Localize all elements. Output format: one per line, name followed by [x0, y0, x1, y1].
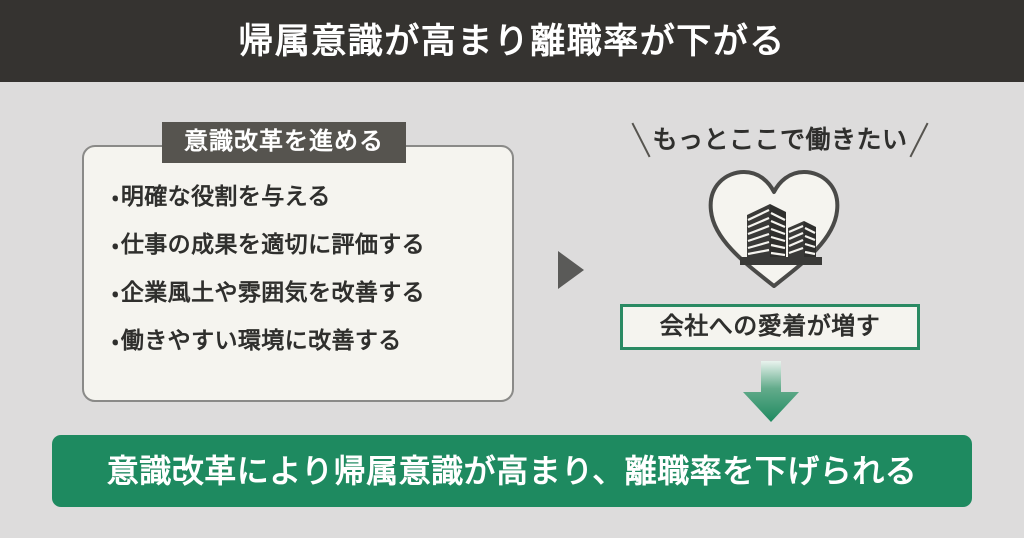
improvement-bullet-list: ・明確な役割を与える ・仕事の成果を適切に評価する ・企業風土や雰囲気を改善する…: [112, 185, 512, 377]
list-item: ・企業風土や雰囲気を改善する: [112, 281, 512, 304]
list-item-label: 働きやすい環境に改善する: [121, 327, 402, 353]
slash-right-icon: [909, 123, 928, 158]
bullet-marker-icon: ・: [112, 188, 121, 209]
attachment-callout-label: 会社への愛着が増す: [660, 315, 881, 339]
header-bar: 帰属意識が高まり離職率が下がる: [0, 0, 1024, 82]
conclusion-banner-label: 意識改革により帰属意識が高まり、離職率を下げられる: [107, 455, 918, 487]
card-badge-label: 意識改革を進める: [184, 128, 384, 155]
want-to-work-caption: もっとここで働きたい: [600, 120, 960, 160]
conclusion-banner: 意識改革により帰属意識が高まり、離職率を下げられる: [52, 435, 972, 507]
list-item-label: 仕事の成果を適切に評価する: [121, 231, 425, 257]
bullet-marker-icon: ・: [112, 284, 121, 305]
want-to-work-label: もっとここで働きたい: [652, 128, 907, 153]
list-item-label: 明確な役割を与える: [121, 183, 331, 209]
card-badge: 意識改革を進める: [162, 122, 406, 163]
heart-with-office-buildings-icon: [706, 168, 842, 290]
attachment-callout-box: 会社への愛着が増す: [620, 304, 920, 350]
list-item: ・明確な役割を与える: [112, 185, 512, 208]
down-arrow-icon: [741, 361, 801, 423]
page-title: 帰属意識が高まり離職率が下がる: [238, 24, 786, 59]
list-item-label: 企業風土や雰囲気を改善する: [121, 279, 425, 305]
bullet-marker-icon: ・: [112, 236, 121, 257]
play-triangle-right-icon: [558, 251, 584, 289]
slash-left-icon: [632, 123, 651, 158]
list-item: ・働きやすい環境に改善する: [112, 329, 512, 352]
list-item: ・仕事の成果を適切に評価する: [112, 233, 512, 256]
bullet-marker-icon: ・: [112, 332, 121, 353]
